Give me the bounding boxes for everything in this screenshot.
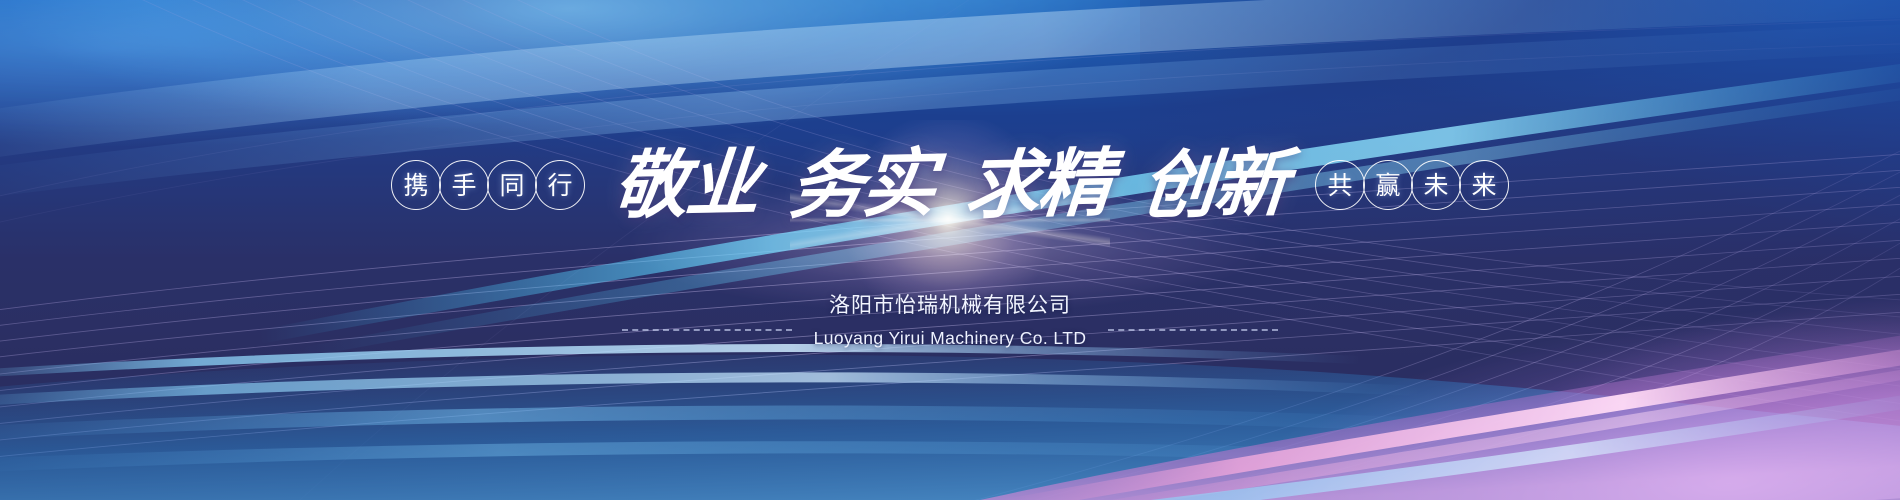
company-banner: 携 手 同 行 敬业 务实 求精 创新 共 赢 未 来 洛阳市怡瑞机械有限公司 …: [0, 0, 1900, 500]
background-top-glow-accent: [0, 0, 1900, 160]
